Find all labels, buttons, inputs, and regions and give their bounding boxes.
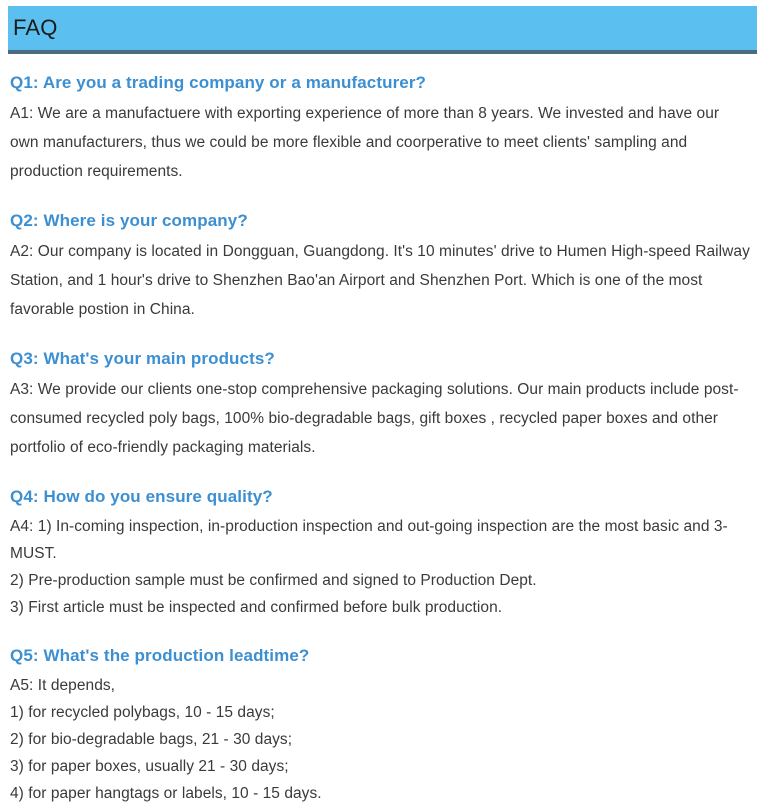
- faq-item-3: Q3: What's your main products? A3: We pr…: [10, 346, 752, 462]
- faq-item-1: Q1: Are you a trading company or a manuf…: [10, 70, 752, 186]
- faq-question-1: Q1: Are you a trading company or a manuf…: [10, 70, 752, 96]
- faq-answer-2: A2: Our company is located in Dongguan, …: [10, 237, 752, 324]
- faq-answer-paragraph: A1: We are a manufactuere with exporting…: [10, 99, 752, 186]
- faq-answer-line: 2) Pre-production sample must be confirm…: [10, 567, 752, 594]
- faq-answer-line: 2) for bio-degradable bags, 21 - 30 days…: [10, 726, 752, 753]
- faq-page: FAQ Q1: Are you a trading company or a m…: [0, 0, 765, 748]
- faq-answer-1: A1: We are a manufactuere with exporting…: [10, 99, 752, 186]
- faq-answer-line: 3) First article must be inspected and c…: [10, 594, 752, 621]
- faq-answer-paragraph: A3: We provide our clients one-stop comp…: [10, 375, 752, 462]
- faq-question-4: Q4: How do you ensure quality?: [10, 484, 752, 510]
- faq-answer-5: A5: It depends, 1) for recycled polybags…: [10, 672, 752, 807]
- faq-content: Q1: Are you a trading company or a manuf…: [10, 70, 752, 807]
- faq-question-5: Q5: What's the production leadtime?: [10, 643, 752, 669]
- faq-answer-4: A4: 1) In-coming inspection, in-producti…: [10, 513, 752, 621]
- faq-header-bar: FAQ: [8, 6, 757, 54]
- faq-item-4: Q4: How do you ensure quality? A4: 1) In…: [10, 484, 752, 621]
- faq-answer-3: A3: We provide our clients one-stop comp…: [10, 375, 752, 462]
- faq-answer-line: 1) for recycled polybags, 10 - 15 days;: [10, 699, 752, 726]
- faq-answer-line: A4: 1) In-coming inspection, in-producti…: [10, 513, 752, 567]
- faq-item-5: Q5: What's the production leadtime? A5: …: [10, 643, 752, 807]
- faq-question-3: Q3: What's your main products?: [10, 346, 752, 372]
- faq-question-2: Q2: Where is your company?: [10, 208, 752, 234]
- page-title: FAQ: [8, 17, 58, 39]
- faq-answer-line: 3) for paper boxes, usually 21 - 30 days…: [10, 753, 752, 780]
- faq-answer-paragraph: A2: Our company is located in Dongguan, …: [10, 237, 752, 324]
- faq-answer-line: A5: It depends,: [10, 672, 752, 699]
- faq-answer-line: 4) for paper hangtags or labels, 10 - 15…: [10, 780, 752, 807]
- faq-item-2: Q2: Where is your company? A2: Our compa…: [10, 208, 752, 324]
